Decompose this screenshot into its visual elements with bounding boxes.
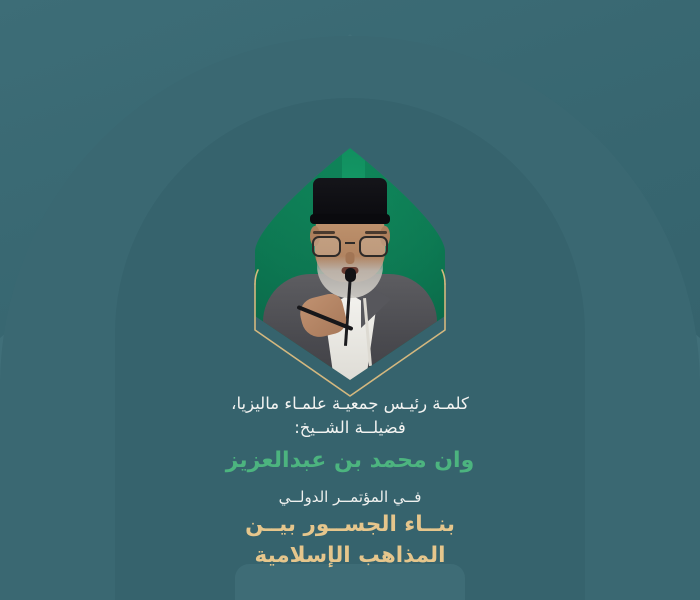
figure-eyeglass-left — [312, 236, 341, 257]
poster-text-block: كلمـة رئيـس جمعيـة علمـاء ماليزيا، فضيلـ… — [0, 392, 700, 570]
microphone-icon — [345, 268, 356, 282]
event-title-line-1: بنــاء الجســور بيــن — [0, 510, 700, 539]
speaker-role-line-2: فضيلــة الشــيخ: — [0, 416, 700, 440]
speaker-role-line-1: كلمـة رئيـس جمعيـة علمـاء ماليزيا، — [0, 392, 700, 416]
figure-eyebrow-right — [365, 231, 387, 234]
event-title-line-2: المذاهب الإسلامية — [0, 541, 700, 570]
speaker-portrait — [255, 148, 445, 380]
portrait-mask — [255, 148, 445, 380]
figure-eyebrow-left — [313, 231, 335, 234]
figure-eyeglass-bridge — [345, 242, 355, 244]
songkok-cap-brim — [310, 214, 390, 224]
speaker-name: وان محمد بن عبدالعزيز — [0, 446, 700, 476]
figure-eyeglass-right — [359, 236, 388, 257]
figure-nose — [346, 252, 355, 264]
poster-canvas: كلمـة رئيـس جمعيـة علمـاء ماليزيا، فضيلـ… — [0, 0, 700, 600]
event-context-line: فــي المؤتمــر الدولــي — [0, 486, 700, 508]
speaker-figure — [255, 148, 445, 380]
